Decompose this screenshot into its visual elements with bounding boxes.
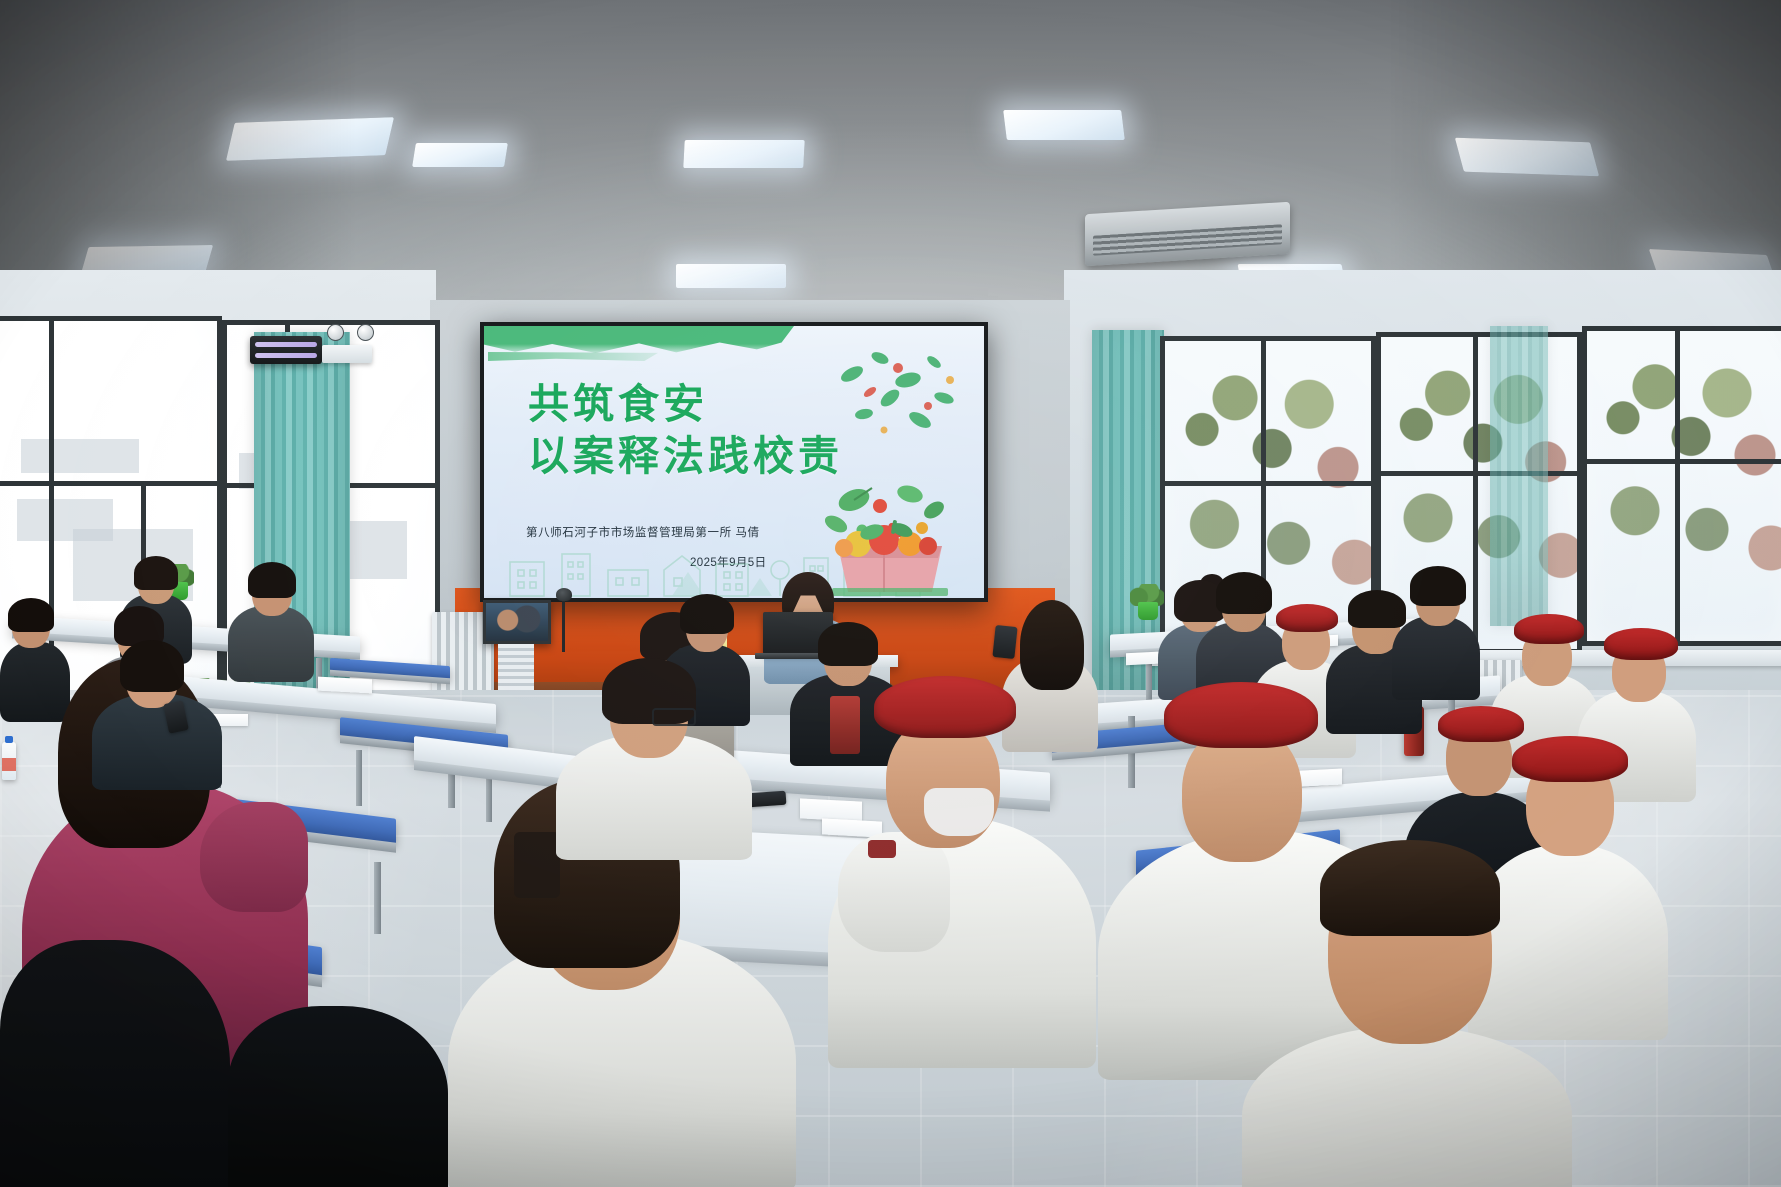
hair-clip-icon (514, 832, 560, 898)
microphone-icon (556, 588, 572, 601)
microphone-stand (562, 596, 565, 652)
curtain-right-far (1490, 326, 1548, 626)
plant-pot (1138, 602, 1158, 620)
wall-control-box (322, 345, 372, 363)
ac-vent-louvers (1093, 224, 1282, 256)
window-right-c (1582, 326, 1781, 646)
preview-monitor (483, 600, 551, 644)
gauge-dial (357, 324, 374, 341)
projection-screen: 共筑食安 以案释法践校责 第八师石河子市市场监督管理局第一所 马倩 2025年9… (484, 326, 984, 598)
attendee-hair (680, 594, 734, 634)
water-bottle (2, 742, 16, 780)
attendee-hair (120, 640, 184, 692)
attendee-bottom-center-left (228, 986, 448, 1187)
attendee-arm (200, 802, 308, 912)
red-beret-icon (1512, 736, 1628, 782)
projection-screen-frame: 共筑食安 以案释法践校责 第八师石河子市市场监督管理局第一所 马倩 2025年9… (480, 322, 988, 602)
attendee-torso (1242, 1026, 1572, 1187)
paper-sheet (318, 677, 372, 694)
attendee-bottom-right (1242, 836, 1572, 1187)
bottle-cap (5, 736, 13, 743)
bench-leg (374, 862, 381, 934)
uv-tube (255, 342, 317, 347)
brush-stroke-accent-icon (488, 352, 658, 361)
attendee-hair (8, 598, 54, 632)
slide-title: 共筑食安 以案释法践校责 (528, 378, 843, 483)
window-mullion (1675, 331, 1680, 641)
attendee-hair (134, 556, 178, 590)
attendee-torso (0, 940, 230, 1187)
wristwatch-icon (868, 840, 896, 858)
slide-title-line1: 共筑食安 (528, 381, 708, 427)
attendee-hair (1410, 566, 1466, 606)
window-mullion (1587, 459, 1781, 464)
glasses-icon (652, 708, 696, 726)
red-beret-icon (1514, 614, 1584, 644)
exterior-building (21, 439, 139, 473)
brush-stroke-banner-icon (484, 326, 794, 356)
exterior-foliage (1587, 331, 1781, 641)
attendee-white-polo (556, 656, 752, 856)
attendee-hair (248, 562, 296, 598)
gauge-dial (327, 324, 344, 341)
meeting-room-photo: 共筑食安 以案释法践校责 第八师石河子市市场监督管理局第一所 马倩 2025年9… (0, 0, 1781, 1187)
phone-held-photographing (992, 625, 1017, 659)
slide-title-line2: 以案释法践校责 (528, 430, 843, 482)
attendee-bottom-left (0, 900, 230, 1187)
attendee-torso (228, 1006, 448, 1187)
attendee-using-phone (92, 636, 222, 786)
red-beret-icon (874, 676, 1016, 738)
preview-monitor-image (486, 603, 548, 641)
attendee-chef-beret (828, 668, 1096, 1068)
red-beret-icon (1164, 682, 1318, 748)
window-mullion (1165, 481, 1371, 486)
attendee-torso (92, 694, 222, 790)
flying-leaves-icon (824, 340, 974, 460)
bench-leg (356, 750, 362, 806)
attendee-hair (818, 622, 878, 666)
attendee-hair (1320, 840, 1500, 936)
face-mask-icon (924, 788, 994, 836)
attendee (1392, 566, 1480, 696)
insect-killer-lamp (250, 336, 322, 364)
wall-gauges (327, 324, 375, 340)
window-mullion (0, 481, 217, 486)
red-beret-icon (1604, 628, 1678, 660)
uv-tube (255, 353, 317, 358)
bottle-label (2, 758, 16, 771)
